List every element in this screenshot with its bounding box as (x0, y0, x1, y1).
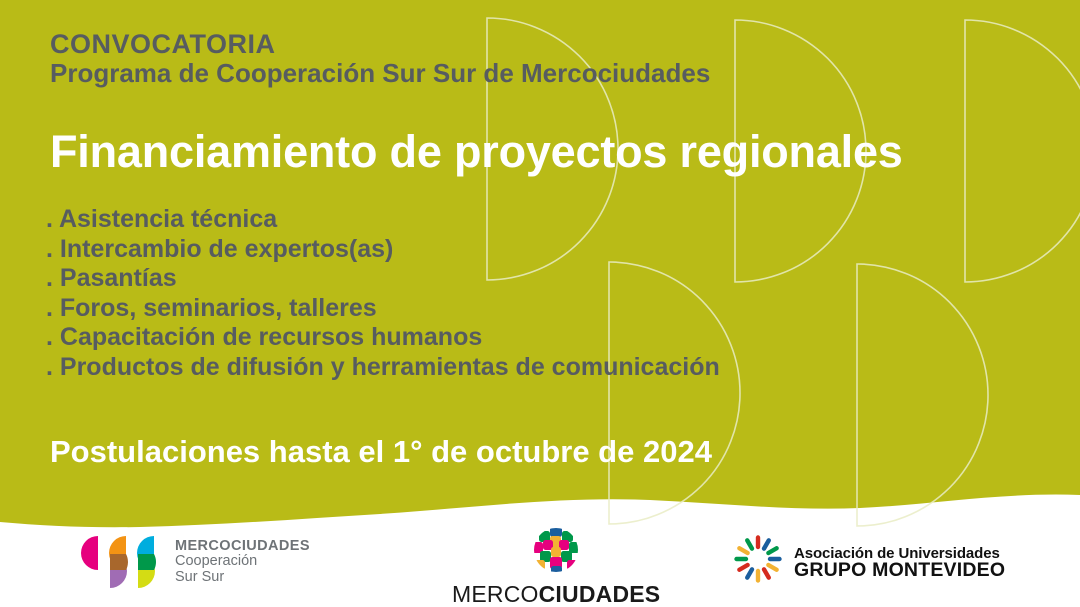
logo-line-2: Cooperación (175, 554, 310, 570)
footer-logo-strip: MERCOCIUDADES Cooperación Sur Sur (0, 540, 1080, 607)
augm-sunburst-icon (733, 534, 783, 589)
mercociudades-weave-icon (533, 527, 579, 578)
kicker-heading: CONVOCATORIA Programa de Cooperación Sur… (50, 30, 710, 87)
deadline-text: Postulaciones hasta el 1° de octubre de … (50, 434, 712, 470)
css-triple-c-icon (78, 533, 164, 591)
logo-mercociudades: MERCOCIUDADES (452, 527, 660, 607)
kicker-line-1: CONVOCATORIA (50, 29, 276, 59)
list-item: . Intercambio de expertos(as) (46, 235, 720, 265)
wordmark-light: MERCO (452, 581, 539, 607)
logo-line-1: MERCOCIUDADES (175, 539, 310, 555)
logo-mercociudades-cooperacion-sur-sur: MERCOCIUDADES Cooperación Sur Sur (78, 533, 310, 591)
list-item: . Productos de difusión y herramientas d… (46, 353, 720, 383)
logo-augm: Asociación de Universidades GRUPO MONTEV… (733, 534, 1005, 589)
page-title: Financiamiento de proyectos regionales (50, 126, 903, 178)
logo-text-block: MERCOCIUDADES Cooperación Sur Sur (175, 539, 310, 586)
list-item: . Asistencia técnica (46, 205, 720, 235)
wordmark-bold: CIUDADES (539, 581, 661, 607)
poster: CONVOCATORIA Programa de Cooperación Sur… (0, 0, 1080, 607)
logo-line-3: Sur Sur (175, 570, 310, 586)
kicker-line-2: Programa de Cooperación Sur Sur de Merco… (50, 59, 710, 87)
list-item: . Foros, seminarios, talleres (46, 294, 720, 324)
poster-content: CONVOCATORIA Programa de Cooperación Sur… (0, 0, 1080, 540)
list-item: . Capacitación de recursos humanos (46, 323, 720, 353)
list-item: . Pasantías (46, 264, 720, 294)
augm-line-2: GRUPO MONTEVIDEO (794, 562, 1005, 579)
mercociudades-wordmark: MERCOCIUDADES (452, 581, 660, 607)
augm-text-block: Asociación de Universidades GRUPO MONTEV… (794, 545, 1005, 579)
benefits-list: . Asistencia técnica . Intercambio de ex… (46, 205, 720, 382)
